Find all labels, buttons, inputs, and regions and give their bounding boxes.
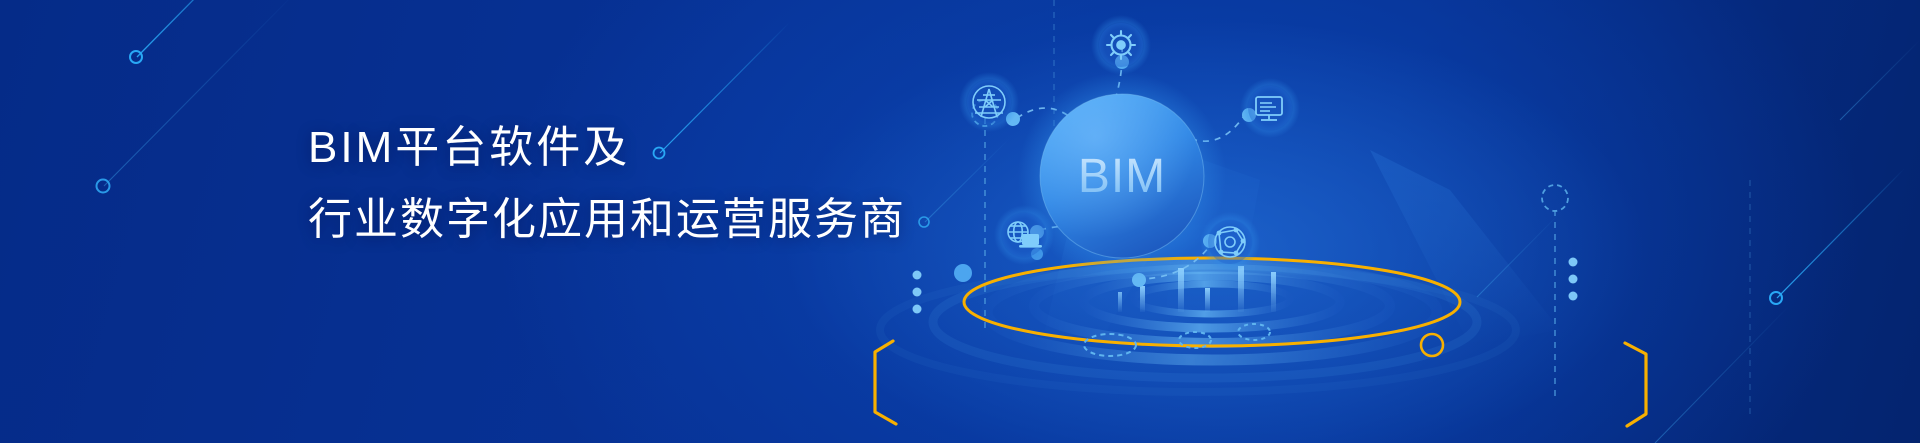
node-gear[interactable] — [1091, 15, 1151, 75]
bim-illustration: BIM — [0, 0, 1920, 443]
node-network[interactable] — [1200, 212, 1260, 272]
sphere-label: BIM — [1078, 150, 1166, 203]
stage-rings — [880, 264, 1516, 392]
node-power-tower[interactable] — [959, 72, 1019, 132]
headline-block: BIM平台软件及 行业数字化应用和运营服务商 — [308, 112, 906, 256]
bracket-left — [875, 341, 896, 424]
node-monitor[interactable] — [1240, 78, 1300, 138]
headline-line-2: 行业数字化应用和运营服务商 — [308, 184, 906, 256]
dot-cluster-left — [913, 271, 922, 314]
gear-icon — [1107, 31, 1135, 59]
dot-cluster-right — [1569, 258, 1578, 301]
headline-line-1: BIM平台软件及 — [308, 112, 906, 184]
bracket-right — [1625, 343, 1646, 426]
node-globe-laptop[interactable] — [994, 205, 1054, 265]
hero-banner: BIM平台软件及 行业数字化应用和运营服务商 — [0, 0, 1920, 443]
